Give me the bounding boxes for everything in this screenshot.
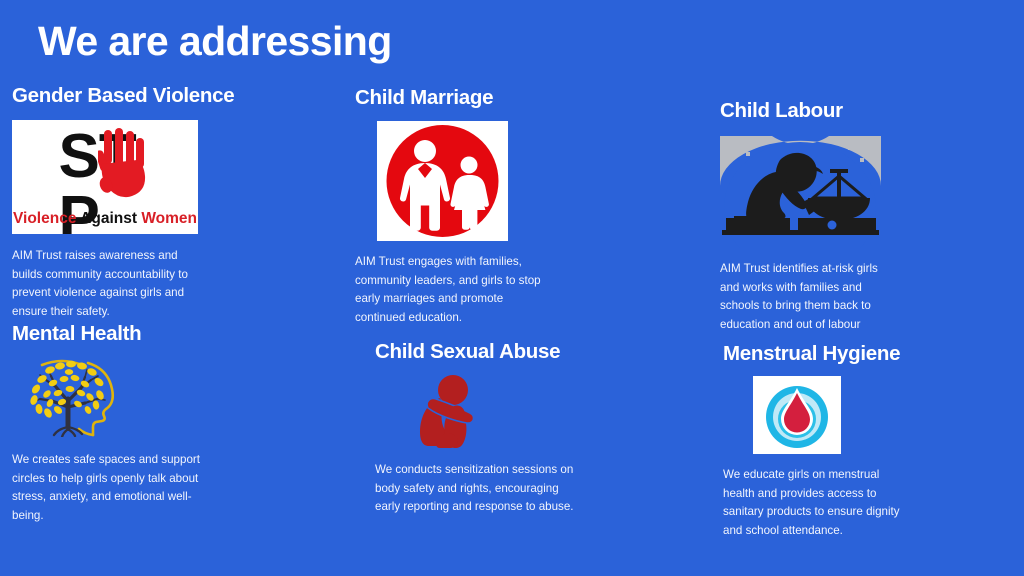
topic-description-gender-based-violence: AIM Trust raises awareness and builds co…	[12, 247, 208, 321]
gbv-icon-container: ST P Violence Against Women	[12, 120, 227, 234]
child-sexual-abuse-icon-container	[410, 374, 590, 449]
red-handprint-icon	[98, 128, 150, 200]
child-marriage-couple-icon	[377, 121, 508, 241]
topic-description-child-marriage: AIM Trust engages with families, communi…	[355, 253, 543, 327]
topic-gender-based-violence: Gender Based Violence ST P Violence Agai	[12, 84, 227, 321]
child-marriage-icon-container	[377, 121, 570, 241]
topic-title-menstrual-hygiene: Menstrual Hygiene	[723, 342, 938, 366]
stop-violence-against-women-logo: ST P Violence Against Women	[12, 120, 198, 234]
topic-description-child-labour: AIM Trust identifies at-risk girls and w…	[720, 260, 900, 334]
stop-sub-against: Against	[80, 210, 137, 227]
topic-title-child-sexual-abuse: Child Sexual Abuse	[375, 340, 590, 364]
topic-mental-health: Mental Health	[12, 322, 227, 525]
stop-sub-women: Women	[141, 210, 197, 227]
topic-description-mental-health: We creates safe spaces and support circl…	[12, 451, 212, 525]
topic-title-gender-based-violence: Gender Based Violence	[12, 84, 227, 108]
topic-menstrual-hygiene: Menstrual Hygiene We educate girls on me…	[723, 342, 938, 540]
blood-drop-rings-icon	[753, 376, 841, 454]
child-labour-silhouette-icon	[720, 136, 881, 248]
topic-child-marriage: Child Marriage AIM Trust e	[355, 86, 570, 327]
slide-canvas: We are addressing Gender Based Violence …	[0, 0, 1024, 576]
topic-description-child-sexual-abuse: We conducts sensitization sessions on bo…	[375, 461, 575, 517]
mental-health-icon-container	[22, 355, 227, 437]
menstrual-hygiene-icon-container	[753, 376, 938, 454]
stop-sub-violence: Violence	[13, 210, 76, 227]
topic-title-child-marriage: Child Marriage	[355, 86, 570, 110]
child-labour-icon-container	[720, 136, 915, 248]
topic-title-mental-health: Mental Health	[12, 322, 227, 346]
sad-child-hugging-knees-icon	[410, 374, 488, 449]
topic-description-menstrual-hygiene: We educate girls on menstrual health and…	[723, 466, 907, 540]
stop-logo-subtitle: Violence Against Women	[13, 210, 197, 228]
brain-tree-head-profile-icon	[22, 355, 134, 437]
topic-title-child-labour: Child Labour	[720, 99, 915, 123]
topic-child-sexual-abuse: Child Sexual Abuse	[375, 340, 590, 517]
topic-child-labour: Child Labour	[720, 99, 915, 334]
page-title: We are addressing	[38, 18, 392, 65]
